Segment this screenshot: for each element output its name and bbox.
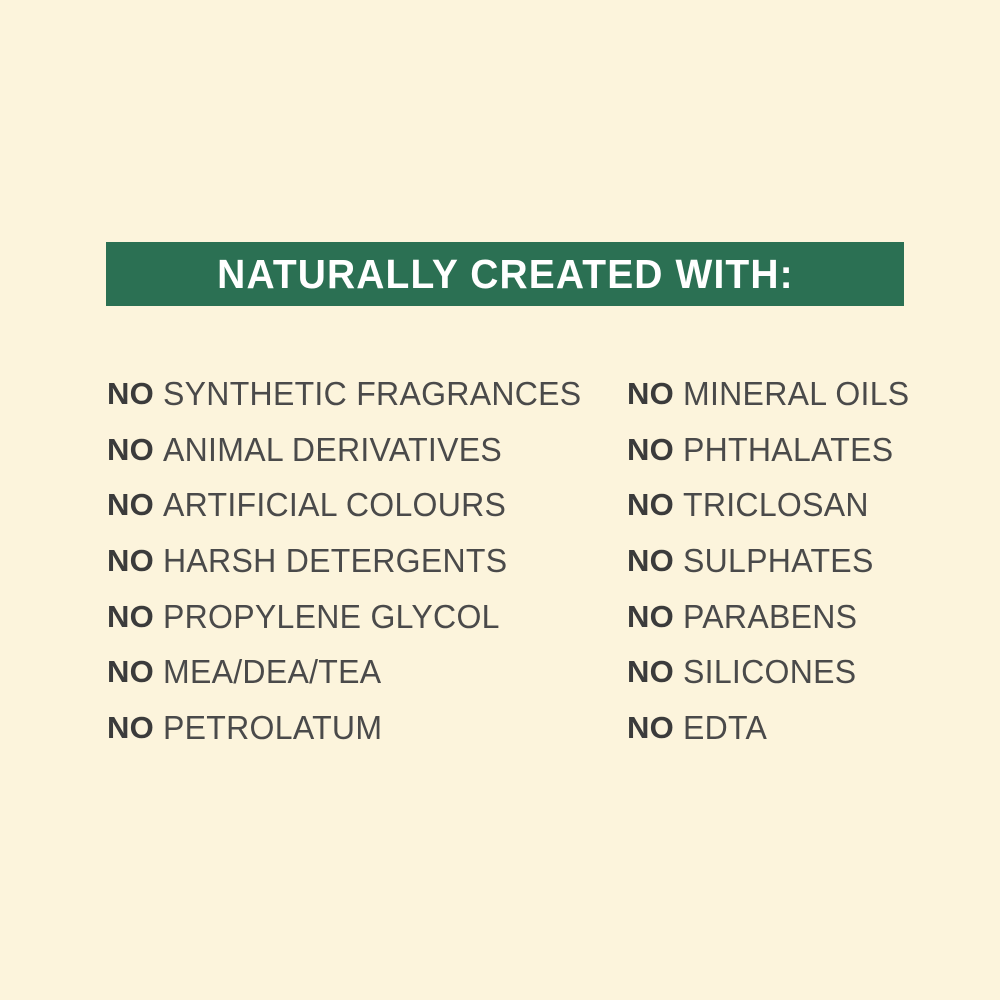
no-prefix: NO: [627, 489, 674, 520]
ingredient-label: EDTA: [683, 711, 767, 744]
ingredient-label: TRICLOSAN: [683, 488, 869, 521]
no-prefix: NO: [107, 712, 154, 743]
no-prefix: NO: [107, 545, 154, 576]
header-banner: NATURALLY CREATED WITH:: [106, 242, 904, 306]
no-prefix: NO: [107, 434, 154, 465]
ingredient-claims-graphic: NATURALLY CREATED WITH: NO SYNTHETIC FRA…: [0, 0, 1000, 1000]
no-prefix: NO: [107, 489, 154, 520]
list-item: NO SYNTHETIC FRAGRANCES: [107, 366, 594, 422]
ingredient-label: SULPHATES: [683, 544, 874, 577]
ingredient-label: PETROLATUM: [163, 711, 382, 744]
ingredient-label: PARABENS: [683, 600, 857, 633]
ingredient-label: MINERAL OILS: [683, 377, 909, 410]
no-prefix: NO: [627, 378, 674, 409]
list-item: NO HARSH DETERGENTS: [107, 533, 594, 589]
list-item: NO ANIMAL DERIVATIVES: [107, 422, 594, 478]
list-item: NO SILICONES: [627, 644, 916, 700]
ingredient-label: ANIMAL DERIVATIVES: [163, 433, 502, 466]
no-prefix: NO: [627, 601, 674, 632]
ingredient-label: SILICONES: [683, 655, 856, 688]
no-prefix: NO: [107, 601, 154, 632]
list-item: NO EDTA: [627, 700, 916, 756]
no-prefix: NO: [627, 434, 674, 465]
list-item: NO SULPHATES: [627, 533, 916, 589]
ingredient-label: HARSH DETERGENTS: [163, 544, 507, 577]
list-item: NO PARABENS: [627, 588, 916, 644]
list-item: NO MEA/DEA/TEA: [107, 644, 594, 700]
list-item: NO PHTHALATES: [627, 422, 916, 478]
list-item: NO TRICLOSAN: [627, 477, 916, 533]
exclusion-list-right-column: NO MINERAL OILS NO PHTHALATES NO TRICLOS…: [627, 366, 916, 755]
ingredient-label: ARTIFICIAL COLOURS: [163, 488, 506, 521]
list-item: NO MINERAL OILS: [627, 366, 916, 422]
ingredient-label: MEA/DEA/TEA: [163, 655, 381, 688]
list-item: NO ARTIFICIAL COLOURS: [107, 477, 594, 533]
exclusion-list-left-column: NO SYNTHETIC FRAGRANCES NO ANIMAL DERIVA…: [107, 366, 594, 755]
no-prefix: NO: [627, 712, 674, 743]
ingredient-label: PHTHALATES: [683, 433, 893, 466]
ingredient-label: PROPYLENE GLYCOL: [163, 600, 500, 633]
ingredient-label: SYNTHETIC FRAGRANCES: [163, 377, 581, 410]
no-prefix: NO: [107, 656, 154, 687]
no-prefix: NO: [107, 378, 154, 409]
no-prefix: NO: [627, 656, 674, 687]
no-prefix: NO: [627, 545, 674, 576]
list-item: NO PETROLATUM: [107, 700, 594, 756]
list-item: NO PROPYLENE GLYCOL: [107, 588, 594, 644]
banner-title: NATURALLY CREATED WITH:: [217, 254, 794, 295]
